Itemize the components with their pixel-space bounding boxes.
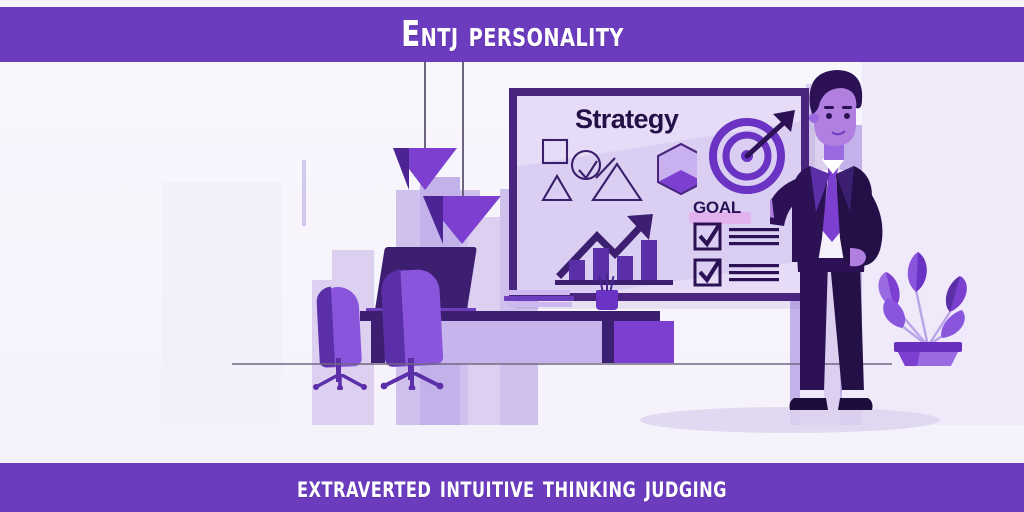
sock — [800, 390, 824, 398]
chart-bar — [617, 256, 633, 280]
lamp-cord-icon — [462, 62, 464, 196]
plant-pot-rim — [894, 342, 962, 352]
eyebrow — [842, 106, 852, 109]
small-triangle-shape — [543, 176, 571, 200]
presenter-figure — [770, 62, 900, 425]
whiteboard-shapes-group — [537, 138, 697, 210]
book-stack-item — [508, 302, 572, 307]
skyline-antenna — [302, 160, 306, 226]
pencil-icon — [606, 273, 608, 291]
checklist-item — [695, 224, 779, 249]
plant-leaf — [941, 310, 965, 338]
ear — [809, 113, 819, 123]
office-chair-right-base — [380, 372, 444, 390]
chart-bar — [641, 240, 657, 280]
square-shape — [543, 140, 567, 163]
circle-shape — [572, 151, 600, 179]
whiteboard[interactable]: Strategy — [509, 88, 809, 301]
plant-pot-shade — [898, 352, 920, 366]
book-stack-item — [504, 296, 574, 301]
whiteboard-surface: Strategy — [517, 96, 801, 293]
whiteboard-bar-chart — [553, 208, 683, 290]
book-stack-item — [508, 290, 570, 295]
pencil-cup-right — [596, 290, 618, 310]
sock — [842, 390, 864, 398]
chart-baseline — [555, 280, 673, 285]
footer-bar: Extraverted Intuitive Thinking Judging — [0, 463, 1024, 512]
hexagon-shape — [658, 144, 697, 194]
lamp-shade-shadow — [423, 196, 443, 244]
office-chair-left-base — [312, 374, 368, 390]
checklist-item — [695, 260, 779, 285]
desk-drawer-side — [602, 318, 614, 363]
desk-drawer — [614, 321, 674, 363]
eye — [844, 113, 850, 119]
pendant-lamp-right — [423, 62, 501, 244]
whiteboard-title: Strategy — [575, 104, 678, 135]
poster-canvas: ENTJ Personality — [0, 0, 1024, 512]
header-bar: ENTJ Personality — [0, 7, 1024, 62]
eye — [826, 113, 832, 119]
wall-panel-left — [162, 182, 282, 425]
illustration-scene: Strategy — [0, 62, 1024, 463]
goal-label: GOAL — [693, 198, 741, 218]
lamp-shade-shadow — [393, 148, 409, 190]
trouser-right — [830, 262, 864, 392]
footer-subtitle: Extraverted Intuitive Thinking Judging — [297, 470, 727, 505]
shoe-right — [838, 398, 873, 410]
shoe-left — [790, 398, 829, 410]
page-title: ENTJ Personality — [401, 14, 624, 55]
eyebrow — [824, 106, 834, 109]
trouser-left — [800, 262, 828, 392]
chart-bar — [569, 260, 585, 280]
